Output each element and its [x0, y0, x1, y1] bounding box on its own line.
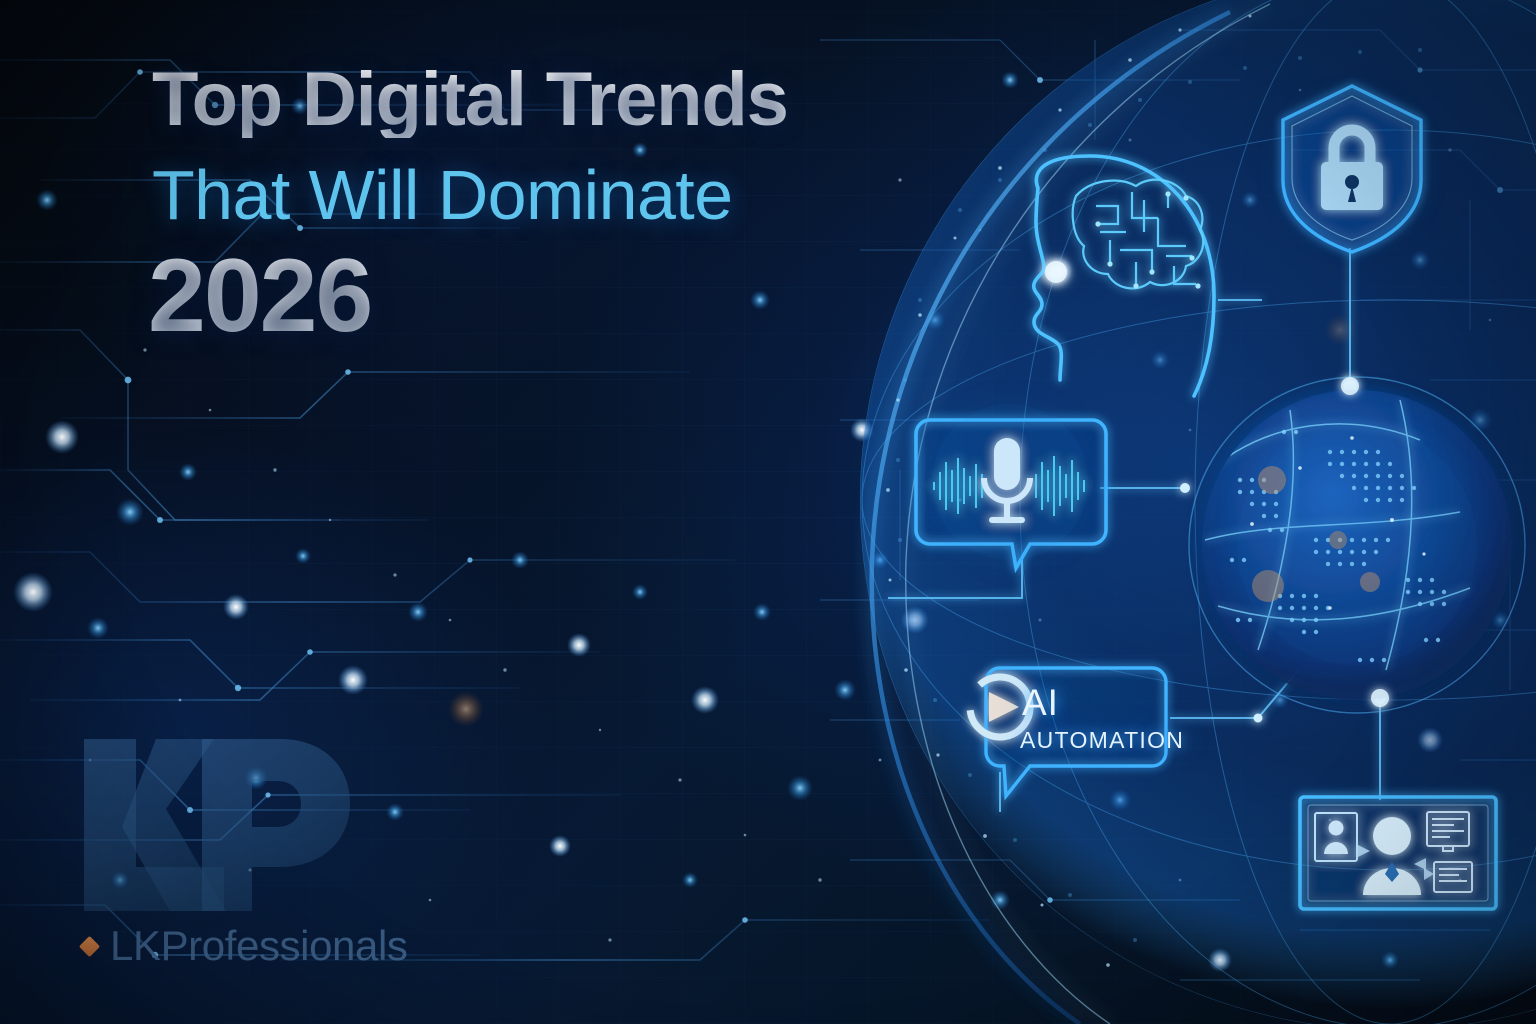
- digital-trends-banner: Top Digital Trends That Will Dominate 20…: [0, 0, 1536, 1024]
- headline-block: Top Digital Trends That Will Dominate 20…: [152, 62, 788, 348]
- lkp-monogram-icon: [74, 735, 374, 920]
- brand-logo: LKProfessionals: [74, 735, 408, 970]
- ai-label-subtitle: AUTOMATION: [1020, 729, 1184, 752]
- video-conference-icon: [1300, 797, 1496, 909]
- headline-year: 2026: [148, 244, 788, 348]
- brand-wordmark-row: LKProfessionals: [82, 922, 408, 970]
- diamond-bullet-icon: [79, 935, 100, 956]
- ai-automation-label: AI AUTOMATION: [1022, 684, 1184, 752]
- headline-line-1: Top Digital Trends: [152, 62, 788, 138]
- ai-label-title: AI: [1022, 684, 1184, 721]
- brand-wordmark: LKProfessionals: [110, 922, 408, 970]
- headline-line-2: That Will Dominate: [152, 160, 788, 230]
